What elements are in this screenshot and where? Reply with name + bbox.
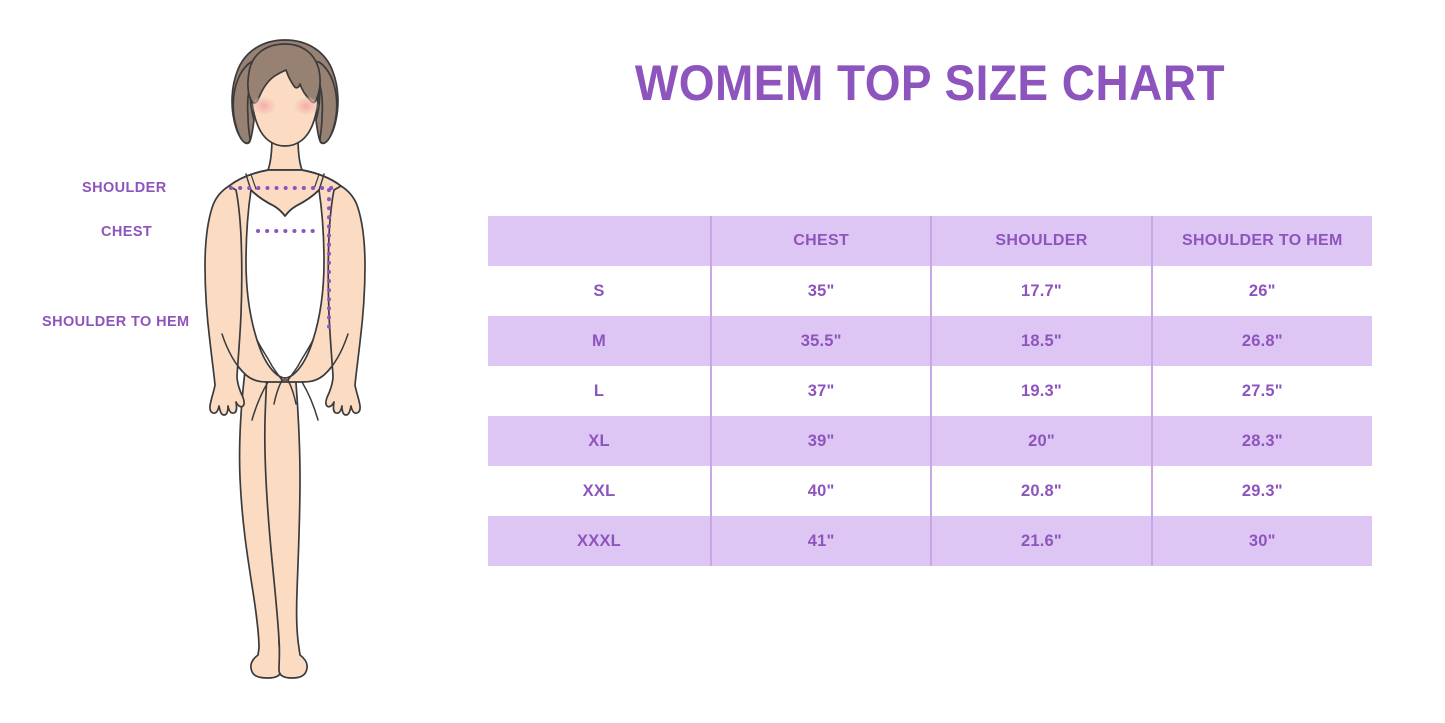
table-row: S 35" 17.7" 26" xyxy=(488,266,1372,316)
cell-shoulder: 18.5" xyxy=(931,316,1151,366)
cell-size: XXL xyxy=(488,466,711,516)
cell-shoulder: 20.8" xyxy=(931,466,1151,516)
measure-label-chest: CHEST xyxy=(101,224,152,240)
column-header-shoulder-to-hem: SHOULDER TO HEM xyxy=(1152,216,1372,266)
size-chart-page: SHOULDER CHEST SHOULDER TO HEM WOMEM TOP… xyxy=(0,0,1445,723)
cell-chest: 40" xyxy=(711,466,931,516)
measure-label-shoulder: SHOULDER xyxy=(82,180,167,196)
size-chart-table-container: CHEST SHOULDER SHOULDER TO HEM S 35" 17.… xyxy=(488,216,1372,566)
table-row: M 35.5" 18.5" 26.8" xyxy=(488,316,1372,366)
cell-shoulder: 17.7" xyxy=(931,266,1151,316)
column-header-size xyxy=(488,216,711,266)
female-body-figure-icon xyxy=(0,0,470,723)
cell-size: L xyxy=(488,366,711,416)
cell-size: XXXL xyxy=(488,516,711,566)
illustration-panel: SHOULDER CHEST SHOULDER TO HEM xyxy=(0,0,470,723)
table-row: L 37" 19.3" 27.5" xyxy=(488,366,1372,416)
cell-shoulder-to-hem: 27.5" xyxy=(1152,366,1372,416)
table-header-row: CHEST SHOULDER SHOULDER TO HEM xyxy=(488,216,1372,266)
cell-chest: 39" xyxy=(711,416,931,466)
page-title: WOMEM TOP SIZE CHART xyxy=(523,54,1336,112)
cell-shoulder-to-hem: 26.8" xyxy=(1152,316,1372,366)
cell-shoulder: 20" xyxy=(931,416,1151,466)
cell-shoulder: 21.6" xyxy=(931,516,1151,566)
cell-chest: 35" xyxy=(711,266,931,316)
measure-label-shoulder-to-hem: SHOULDER TO HEM xyxy=(42,314,190,330)
cell-size: M xyxy=(488,316,711,366)
table-row: XXXL 41" 21.6" 30" xyxy=(488,516,1372,566)
table-body: S 35" 17.7" 26" M 35.5" 18.5" 26.8" L 37… xyxy=(488,266,1372,566)
cell-shoulder: 19.3" xyxy=(931,366,1151,416)
cell-chest: 35.5" xyxy=(711,316,931,366)
cell-chest: 37" xyxy=(711,366,931,416)
cell-shoulder-to-hem: 30" xyxy=(1152,516,1372,566)
size-chart-table: CHEST SHOULDER SHOULDER TO HEM S 35" 17.… xyxy=(488,216,1372,566)
table-row: XXL 40" 20.8" 29.3" xyxy=(488,466,1372,516)
cell-shoulder-to-hem: 26" xyxy=(1152,266,1372,316)
cell-size: XL xyxy=(488,416,711,466)
table-header: CHEST SHOULDER SHOULDER TO HEM xyxy=(488,216,1372,266)
column-header-shoulder: SHOULDER xyxy=(931,216,1151,266)
table-row: XL 39" 20" 28.3" xyxy=(488,416,1372,466)
cell-chest: 41" xyxy=(711,516,931,566)
column-header-chest: CHEST xyxy=(711,216,931,266)
cell-size: S xyxy=(488,266,711,316)
cell-shoulder-to-hem: 28.3" xyxy=(1152,416,1372,466)
cell-shoulder-to-hem: 29.3" xyxy=(1152,466,1372,516)
